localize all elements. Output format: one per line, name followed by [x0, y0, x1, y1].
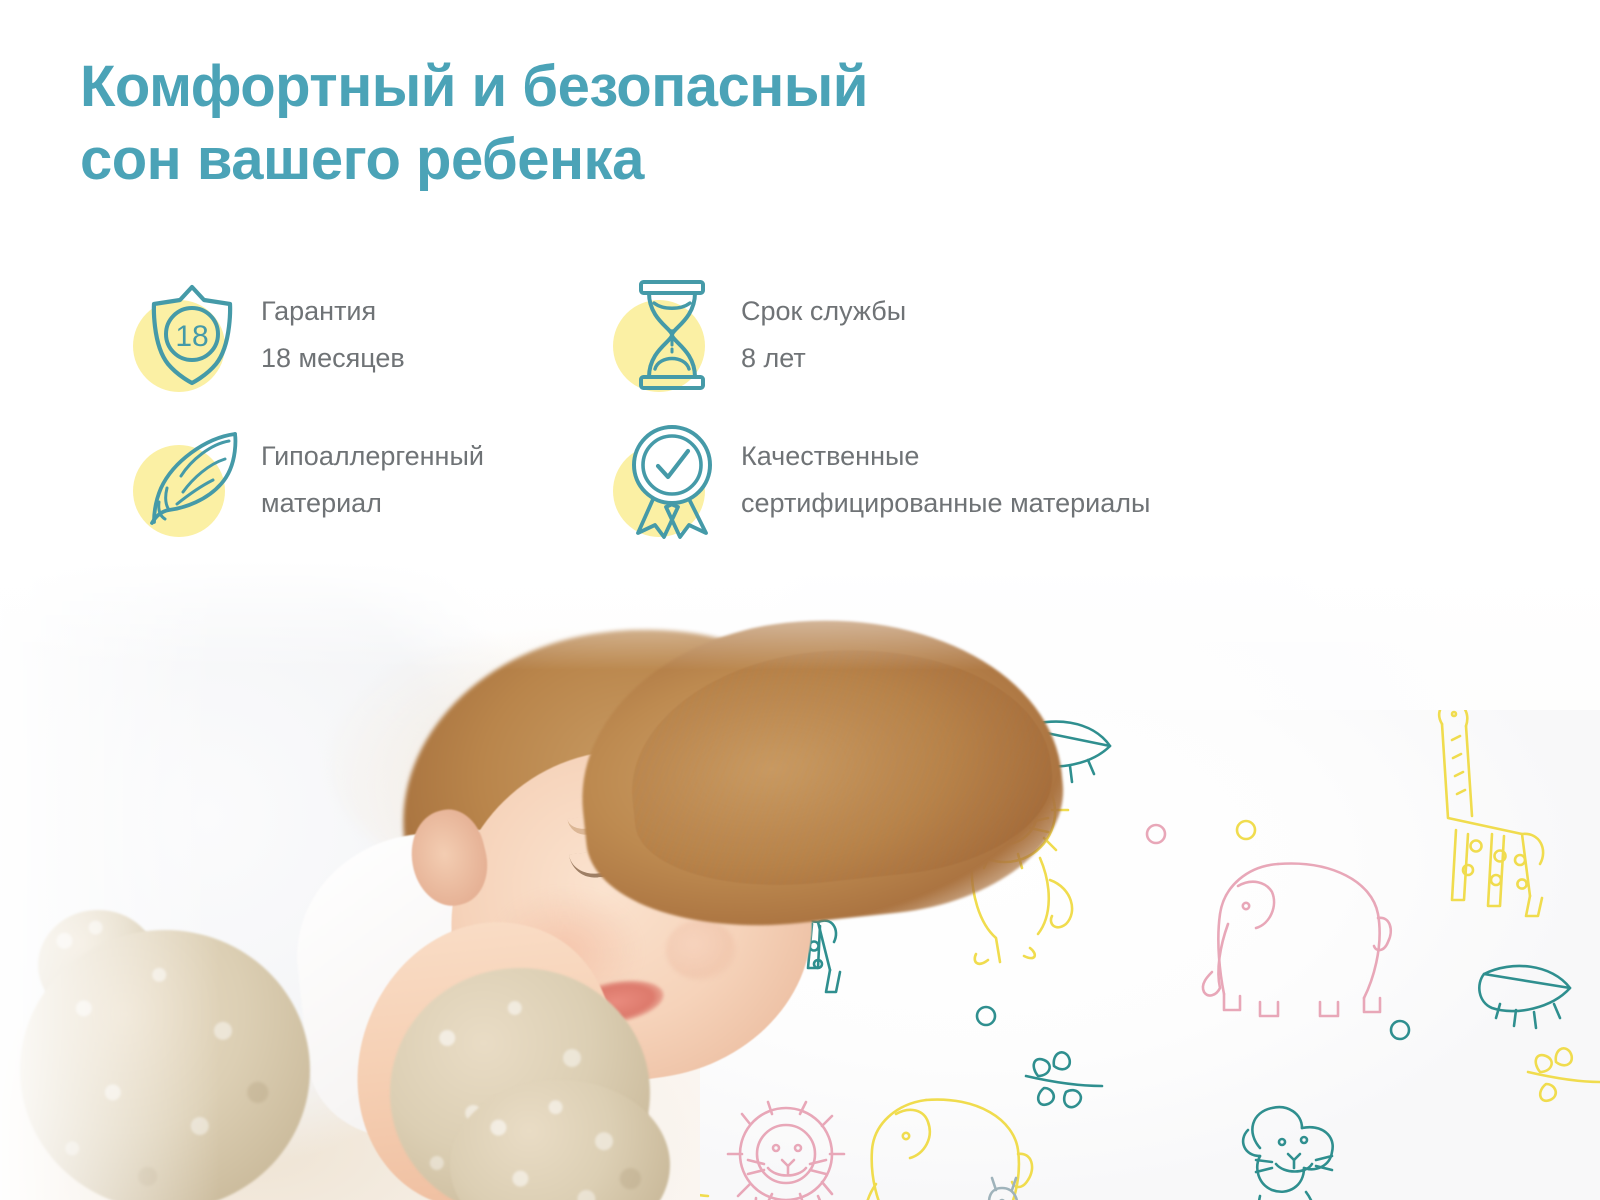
hourglass-icon: [613, 274, 731, 396]
page-title: Комфортный и безопасный сон вашего ребен…: [80, 50, 868, 196]
promo-banner: Комфортный и безопасный сон вашего ребен…: [0, 0, 1600, 1200]
feature-item-certified: Качественные сертифицированные материалы: [613, 407, 1353, 552]
feature-item-lifespan: Срок службы 8 лет: [613, 262, 1353, 407]
feature-label-certified: Качественные сертифицированные материалы: [741, 433, 1150, 526]
feature-label-lifespan: Срок службы 8 лет: [741, 288, 906, 381]
leaf-motif: [1479, 966, 1570, 1028]
hero-photo: [0, 560, 1600, 1200]
teddy-bear-left: [20, 930, 310, 1200]
lion-motif: [1243, 1107, 1333, 1200]
feature-item-warranty: 18 Гарантия 18 месяцев: [133, 262, 613, 407]
child-nose: [666, 920, 736, 980]
elephant-motif: [1203, 864, 1391, 1016]
certificate-check-icon: [613, 419, 731, 541]
shield-badge-number: 18: [175, 320, 208, 353]
feather-icon: [133, 419, 251, 541]
feature-label-warranty: Гарантия 18 месяцев: [261, 288, 405, 381]
feature-grid: 18 Гарантия 18 месяцев: [133, 262, 1353, 552]
feature-item-hypoallergenic: Гипоаллергенный материал: [133, 407, 613, 552]
giraffe-motif: [1439, 710, 1543, 916]
shield-18-icon: 18: [133, 274, 251, 396]
branch-motif: [1528, 1048, 1600, 1100]
feature-label-hypoallergenic: Гипоаллергенный материал: [261, 433, 484, 526]
